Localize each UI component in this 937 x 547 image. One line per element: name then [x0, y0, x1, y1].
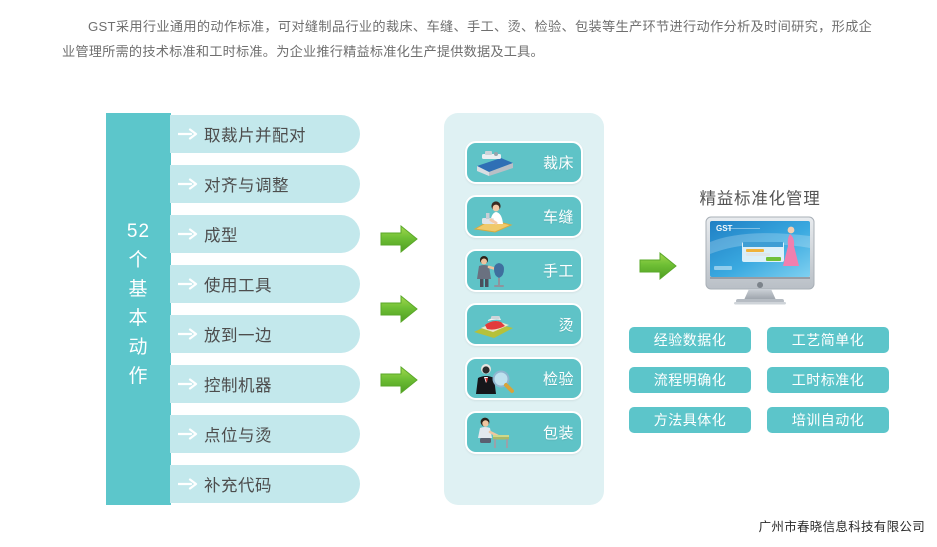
basic-actions-bar-label: 52 个 基 本 动 作	[106, 217, 171, 391]
list-item-label: 点位与烫	[204, 422, 272, 446]
arrow-right-icon	[178, 428, 198, 440]
cutting-table-icon	[471, 146, 517, 180]
inspector-magnifier-icon	[471, 362, 517, 396]
list-item-label: 成型	[204, 222, 238, 246]
status-badge[interactable]: 培训自动化	[767, 407, 889, 433]
arrow-right-icon	[178, 328, 198, 340]
list-item[interactable]: 使用工具	[170, 265, 360, 303]
tag-row: 流程明确化 工时标准化	[629, 367, 889, 393]
arrow-right-icon	[178, 278, 198, 290]
arrow-right-icon	[178, 128, 198, 140]
list-item[interactable]: 检验	[465, 357, 583, 400]
basic-actions-list: 取裁片并配对 对齐与调整 成型 使用工具 放到一边	[170, 115, 360, 515]
list-item[interactable]: 控制机器	[170, 365, 360, 403]
sewing-machine-operator-icon	[471, 200, 517, 234]
list-item-label: 裁床	[543, 152, 574, 173]
list-item[interactable]: 裁床	[465, 141, 583, 184]
tag-row: 经验数据化 工艺简单化	[629, 327, 889, 353]
arrow-right-icon	[178, 378, 198, 390]
page-title: 精益标准化管理	[660, 185, 860, 209]
list-item-label: 包装	[543, 422, 574, 443]
list-item-label: 检验	[543, 368, 574, 389]
ironing-icon	[471, 308, 517, 342]
green-arrow-icon	[379, 224, 419, 254]
green-arrow-icon	[379, 294, 419, 324]
status-badge[interactable]: 方法具体化	[629, 407, 751, 433]
packing-worker-icon	[471, 416, 517, 450]
green-arrow-icon	[638, 251, 678, 281]
production-process-list: 裁床 车缝	[465, 141, 583, 465]
list-item[interactable]: 对齐与调整	[170, 165, 360, 203]
list-item-label: 控制机器	[204, 372, 272, 396]
bar-char-1: 基	[106, 275, 171, 304]
basic-actions-panel: 52 个 基 本 动 作 取裁片并配对 对齐与调整 成型	[106, 113, 360, 505]
bar-char-3: 动	[106, 333, 171, 362]
list-item-label: 车缝	[543, 206, 574, 227]
list-item-label: 使用工具	[204, 272, 272, 296]
list-item-label: 补充代码	[204, 472, 272, 496]
benefit-tag-grid: 经验数据化 工艺简单化 流程明确化 工时标准化 方法具体化 培训自动化	[629, 327, 889, 447]
list-item[interactable]: 取裁片并配对	[170, 115, 360, 153]
tag-row: 方法具体化 培训自动化	[629, 407, 889, 433]
list-item-label: 放到一边	[204, 322, 272, 346]
tailor-mannequin-icon	[471, 254, 517, 288]
list-item[interactable]: 补充代码	[170, 465, 360, 503]
bar-number: 52	[106, 217, 171, 246]
status-badge[interactable]: 流程明确化	[629, 367, 751, 393]
list-item[interactable]: 点位与烫	[170, 415, 360, 453]
list-item[interactable]: 车缝	[465, 195, 583, 238]
arrow-right-icon	[178, 478, 198, 490]
list-item[interactable]: 手工	[465, 249, 583, 292]
footer-company: 广州市春晓信息科技有限公司	[759, 516, 925, 535]
list-item[interactable]: 成型	[170, 215, 360, 253]
green-arrow-icon	[379, 365, 419, 395]
list-item[interactable]: 包装	[465, 411, 583, 454]
basic-actions-bar: 52 个 基 本 动 作	[106, 113, 171, 505]
list-item-label: 手工	[543, 260, 574, 281]
list-item-label: 取裁片并配对	[204, 122, 306, 146]
imac-monitor-icon: GST	[704, 216, 816, 308]
bar-char-4: 作	[106, 362, 171, 391]
intro-line-1: GST采用行业通用的动作标准，可对缝制品行业的裁床、车缝、手工、烫、检验、包装等…	[88, 19, 832, 34]
arrow-right-icon	[178, 178, 198, 190]
bar-char-0: 个	[106, 246, 171, 275]
status-badge[interactable]: 经验数据化	[629, 327, 751, 353]
list-item-label: 烫	[558, 314, 574, 335]
list-item[interactable]: 烫	[465, 303, 583, 346]
status-badge[interactable]: 工时标准化	[767, 367, 889, 393]
bar-char-2: 本	[106, 304, 171, 333]
status-badge[interactable]: 工艺简单化	[767, 327, 889, 353]
list-item[interactable]: 放到一边	[170, 315, 360, 353]
arrow-right-icon	[178, 228, 198, 240]
production-process-panel: 裁床 车缝	[444, 113, 604, 505]
list-item-label: 对齐与调整	[204, 172, 289, 196]
intro-paragraph: GST采用行业通用的动作标准，可对缝制品行业的裁床、车缝、手工、烫、检验、包装等…	[62, 14, 872, 64]
